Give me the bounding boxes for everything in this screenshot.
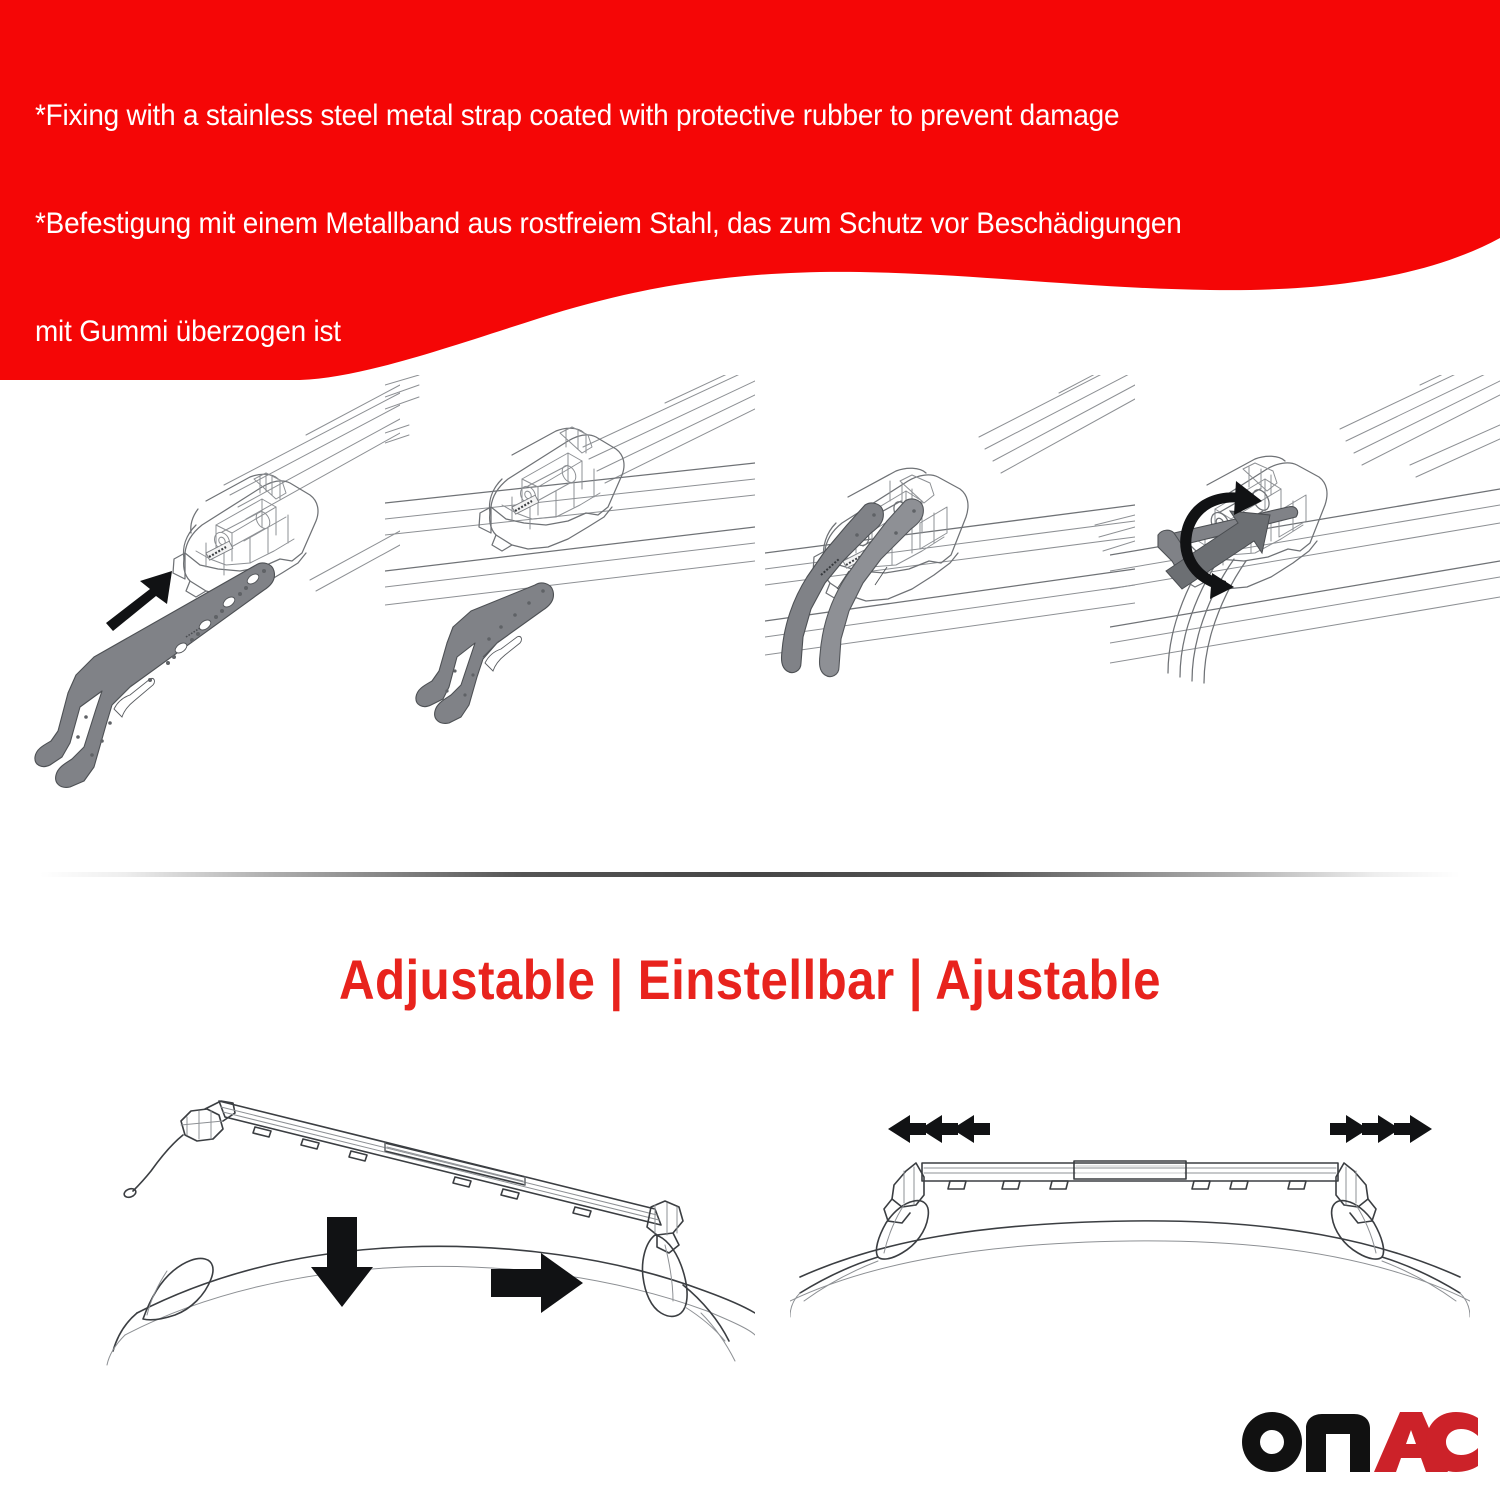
right-foot: [1336, 1163, 1376, 1223]
step-2-illustration: [385, 375, 755, 835]
red-header-banner: *Fixing with a stainless steel metal str…: [0, 0, 1500, 380]
banner-line-1: *Fixing with a stainless steel metal str…: [35, 98, 1356, 134]
stainless-steel-strap: [416, 583, 554, 723]
step-4-tighten-allen-key: [1110, 375, 1500, 855]
car-roof: [107, 1235, 755, 1365]
roof-rail: [385, 463, 755, 605]
banner-line-2: *Befestigung mit einem Metallband aus ro…: [35, 206, 1356, 242]
triple-left-arrows: [888, 1115, 990, 1143]
crossbar-width-adjust-svg: [790, 1085, 1470, 1385]
down-arrow: [311, 1217, 373, 1307]
logo-letter-m: [1306, 1414, 1370, 1472]
right-arrow: [491, 1253, 583, 1313]
step-3-illustration: [765, 375, 1135, 835]
omac-logo: [1238, 1398, 1478, 1478]
banner-line-3: mit Gummi überzogen ist: [35, 314, 1356, 350]
logo-letter-o: [1242, 1412, 1302, 1472]
left-foot: [884, 1163, 924, 1223]
crossbar: [219, 1101, 661, 1225]
infographic-page: *Fixing with a stainless steel metal str…: [0, 0, 1500, 1500]
left-foot: [181, 1101, 235, 1141]
crossbar-lines: [583, 375, 755, 483]
crossbar-lowering-svg: [55, 1085, 755, 1385]
section-divider: [40, 872, 1460, 877]
crossbar-lines: [1340, 375, 1500, 477]
crossbar-lowering-illustration: [55, 1085, 755, 1385]
bottom-illustrations-row: [0, 1085, 1500, 1385]
step-1-illustration: [10, 375, 400, 835]
adjustable-heading: Adjustable | Einstellbar | Ajustable: [90, 948, 1410, 1012]
roof-rail: [1110, 489, 1500, 663]
step-1-strap-insert: [10, 375, 400, 855]
triple-right-arrows: [1330, 1115, 1432, 1143]
foot-mount-tab: [479, 507, 512, 551]
foot-mount-tab: [173, 553, 206, 597]
installation-steps-row: [0, 375, 1500, 855]
omac-logo-svg: [1238, 1398, 1478, 1478]
crossbar-lines: [224, 385, 400, 519]
rack-foot-body: [490, 428, 625, 549]
step-2-foot-on-rail: [385, 375, 755, 855]
crossbar-width-adjust-illustration: [790, 1085, 1470, 1385]
hanging-strap: [123, 1135, 183, 1199]
foot-label-tag: [206, 541, 233, 560]
foot-label-tag: [512, 495, 539, 514]
crossbar-stub-left: [385, 375, 419, 443]
step-4-illustration: [1110, 375, 1500, 835]
crossbar: [922, 1161, 1338, 1189]
car-roof: [790, 1201, 1470, 1317]
step-3-strap-wrapped: [765, 375, 1135, 855]
